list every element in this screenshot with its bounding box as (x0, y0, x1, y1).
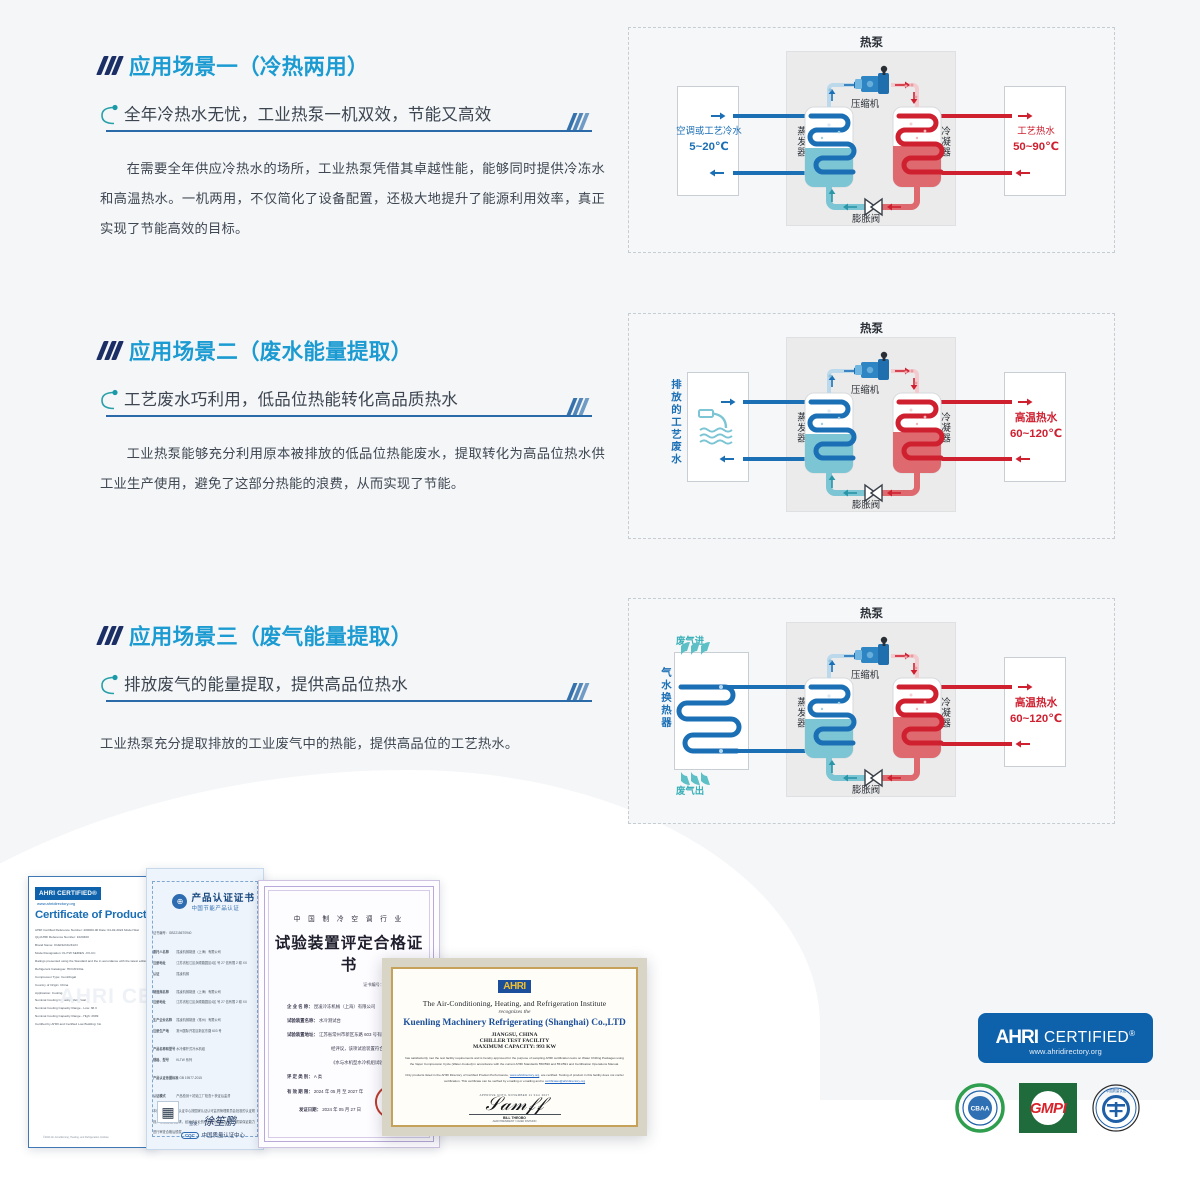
slashes-icon (100, 341, 120, 360)
ahri-badge-url: www.ahridirectory.org (978, 1047, 1153, 1056)
scene-2-subtitle: 工艺废水巧利用，低品位热能转化高品质热水 (124, 386, 458, 410)
scene-3-title: 应用场景三（废气能量提取） (129, 620, 412, 651)
arc-bullet-icon (100, 104, 118, 127)
refrigeration-cycle-graphic (629, 28, 1116, 254)
cert-4-signature: 𝒮𝒶𝓂𝒻𝒻 (403, 1095, 626, 1114)
cert-china-energy-saving[interactable]: ⊕ 产品认证证书 中国节能产品认证 证书编号：GB22156T0940 委托人名… (146, 868, 264, 1150)
certificates-gallery: AHRI CERTIFIED® www.ahridirectory.org Ce… (0, 860, 680, 1160)
ahri-certified-text: CERTIFIED® (1044, 1029, 1135, 1047)
svg-text:中国质量认证: 中国质量认证 (1106, 1088, 1127, 1093)
scene-2-subtitle-rule (106, 415, 592, 417)
cbaa-logo[interactable]: CBAA (955, 1083, 1005, 1133)
compressor-icon (855, 637, 889, 665)
arc-bullet-icon (100, 389, 118, 412)
gmpi-logo-text: GMPI (1030, 1100, 1066, 1117)
end-slashes-icon (570, 398, 586, 415)
scene-1-diagram: 热泵 空调或工艺冷水 5~20℃ 工艺热水 50~90℃ 蒸发器 冷凝器 压缩机… (628, 27, 1115, 253)
refrigeration-cycle-graphic (629, 314, 1116, 540)
scene-3-text-block: 应用场景三（废气能量提取） 排放废气的能量提取，提供高品位热水 工业热泵充分提取… (100, 620, 605, 759)
waste-water-discharge-icon (699, 410, 732, 444)
ahri-wordmark: AHRI (996, 1027, 1038, 1049)
scene-3-body: 工业热泵充分提取排放的工业废气中的热能，提供高品位的工艺热水。 (100, 729, 605, 759)
scene-3-diagram: 热泵 气水换热器 废气进 废气出 高温热水 60~120℃ 蒸发器 冷凝器 压缩… (628, 598, 1115, 824)
cbaa-logo-text: CBAA (971, 1106, 990, 1113)
china-quality-logo[interactable]: 中国质量认证 (1091, 1083, 1141, 1133)
scene-2-heading: 应用场景二（废水能量提取） (100, 335, 605, 366)
slashes-icon (100, 56, 120, 75)
compressor-icon (855, 66, 889, 94)
scene-2-title: 应用场景二（废水能量提取） (129, 335, 412, 366)
cert-2-subheading: 中国节能产品认证 (191, 904, 255, 912)
ahri-certified-badge[interactable]: AHRI CERTIFIED® www.ahridirectory.org (978, 1013, 1153, 1063)
cert-4-institute: The Air-Conditioning, Heating, and Refri… (403, 999, 626, 1008)
scene-3-heading: 应用场景三（废气能量提取） (100, 620, 605, 651)
cert-1-lines: AHRI Certified Reference Number: 200000-… (35, 927, 149, 1029)
cert-4-logo: AHRI (498, 980, 530, 993)
cert-4-recognizes: recognizes the (403, 1009, 626, 1015)
scene-1-subtitle-rule (106, 130, 592, 132)
gas-inlet-arrows-icon (681, 642, 710, 655)
slashes-icon (100, 626, 120, 645)
scene-1-text-block: 应用场景一（冷热两用） 全年冷热水无忧，工业热泵一机双效，节能又高效 在需要全年… (100, 50, 605, 244)
end-slashes-icon (570, 683, 586, 700)
gmpi-logo[interactable]: GMPI (1019, 1083, 1077, 1133)
scene-3-subtitle-rule (106, 700, 592, 702)
cert-4-signer-title: AHRI PRESIDENT / CHIEF DIVISION (403, 1120, 626, 1123)
cert-2-stamp: 中国质量认证中心 (202, 1131, 245, 1139)
scene-2-diagram: 热泵 排放的工艺废水 高温热水 60~120℃ 蒸发器 冷凝器 压缩机 膨胀阀 (628, 313, 1115, 539)
qr-code-icon: ▦ (157, 1101, 179, 1123)
cert-2-heading: 产品认证证书 (191, 890, 255, 904)
cert-ahri-framed[interactable]: AHRI The Air-Conditioning, Heating, and … (382, 958, 647, 1136)
cert-1-watermark: AHRI CE (60, 985, 153, 1009)
scene-1-body: 在需要全年供应冷热水的场所，工业热泵凭借其卓越性能，能够同时提供冷冻水和高温热水… (100, 154, 605, 244)
end-slashes-icon (570, 113, 586, 130)
gas-outlet-arrows-icon (681, 772, 710, 785)
cert-3-industry: 中 国 制 冷 空 调 行 业 (269, 913, 429, 923)
cert-1-heading: Certificate of Product (35, 909, 149, 922)
scene-3-subtitle: 排放废气的能量提取，提供高品位热水 (124, 671, 408, 695)
cert-1-footer: ©2024 Air-Conditioning, Heating, and Ref… (43, 1136, 149, 1141)
ahri-badge: AHRI CERTIFIED® (35, 887, 101, 900)
ahri-badge-url: www.ahridirectory.org (37, 901, 149, 906)
cqc-seal-icon: ⊕ (172, 894, 187, 909)
expansion-valve-icon (865, 199, 882, 215)
cert-4-company: Kuenling Machinery Refrigerating (Shangh… (403, 1018, 626, 1030)
scene-2-body: 工业热泵能够充分利用原本被排放的低品位热能废水，提取转化为高品位热水供工业生产使… (100, 439, 605, 499)
cqc-logo: CQC (181, 1132, 199, 1139)
compressor-icon (855, 352, 889, 380)
cert-ahri-certificate-of-product[interactable]: AHRI CERTIFIED® www.ahridirectory.org Ce… (28, 876, 156, 1148)
scene-2-text-block: 应用场景二（废水能量提取） 工艺废水巧利用，低品位热能转化高品质热水 工业热泵能… (100, 335, 605, 499)
expansion-valve-icon (865, 770, 882, 786)
accreditation-logos: CBAA GMPI 中国质量认证 (955, 1083, 1141, 1133)
refrigeration-cycle-graphic (629, 599, 1116, 825)
scene-1-title: 应用场景一（冷热两用） (129, 50, 369, 81)
expansion-valve-icon (865, 485, 882, 501)
cert-4-capacity: MAXIMUM CAPACITY: 993 KW (403, 1044, 626, 1050)
scene-1-heading: 应用场景一（冷热两用） (100, 50, 605, 81)
arc-bullet-icon (100, 674, 118, 697)
scene-1-subtitle: 全年冷热水无忧，工业热泵一机双效，节能又高效 (124, 101, 491, 125)
